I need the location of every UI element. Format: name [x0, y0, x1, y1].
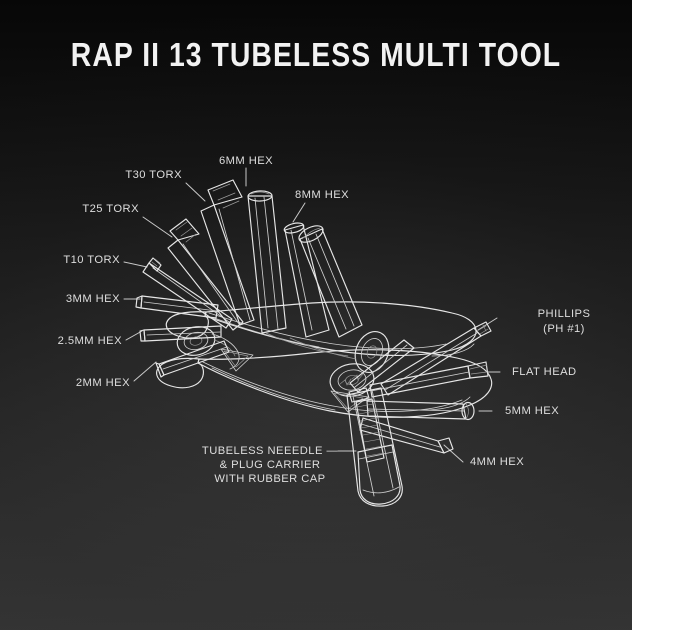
bit-6mm-hex: [248, 191, 286, 333]
callout-5mm-hex: 5MM HEX: [505, 404, 625, 418]
callout-t30-torx: T30 TORX: [10, 168, 182, 182]
tool-bits: [136, 180, 491, 453]
callout-tubeless-line1: TUBELESS NEEEDLE —: [197, 444, 343, 458]
callout-4mm-hex: 4MM HEX: [470, 455, 590, 469]
callout-tubeless-needle: TUBELESS NEEEDLE — & PLUG CARRIER WITH R…: [197, 444, 343, 486]
callout-phillips-line2: (PH #1): [504, 322, 624, 337]
tubeless-needle-plug-carrier: [347, 388, 402, 506]
right-white-margin: [632, 0, 680, 630]
bit-25mm-hex: [140, 326, 221, 341]
callout-6mm-hex: 6MM HEX: [186, 154, 306, 168]
dark-product-panel: RAP II 13 TUBELESS MULTI TOOL .s{fill:no…: [0, 0, 632, 630]
product-diagram-canvas: RAP II 13 TUBELESS MULTI TOOL .s{fill:no…: [0, 0, 680, 630]
callout-2mm-hex: 2MM HEX: [10, 376, 130, 390]
bit-t10-torx: [143, 258, 232, 328]
callout-t25-torx: T25 TORX: [10, 202, 139, 216]
bit-mid-unlabeled: [283, 221, 329, 337]
callout-t10-torx: T10 TORX: [10, 253, 120, 267]
callout-tubeless-line3: WITH RUBBER CAP: [197, 472, 343, 486]
callout-phillips: PHILLIPS (PH #1): [504, 307, 624, 337]
callout-flat-head: FLAT HEAD: [512, 365, 632, 379]
callout-phillips-line1: PHILLIPS: [504, 307, 624, 322]
callout-tubeless-line2: & PLUG CARRIER: [197, 458, 343, 472]
callout-25mm-hex: 2.5MM HEX: [10, 334, 122, 348]
callout-8mm-hex: 8MM HEX: [262, 188, 382, 202]
callout-3mm-hex: 3MM HEX: [10, 292, 120, 306]
